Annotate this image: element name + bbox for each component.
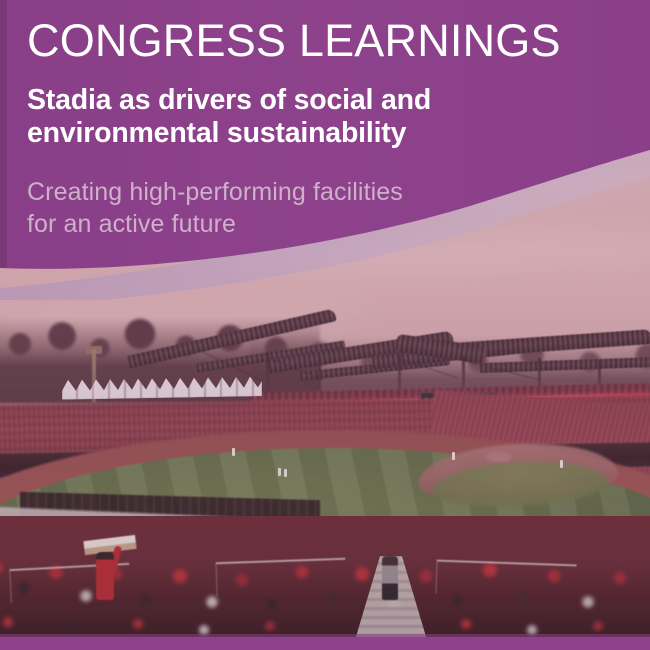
- stadium-photo: [0, 0, 650, 650]
- bottom-brand-bar: [0, 637, 650, 650]
- color-lift-overlay: [0, 0, 650, 650]
- congress-learnings-poster: CONGRESS LEARNINGS Stadia as drivers of …: [0, 0, 650, 650]
